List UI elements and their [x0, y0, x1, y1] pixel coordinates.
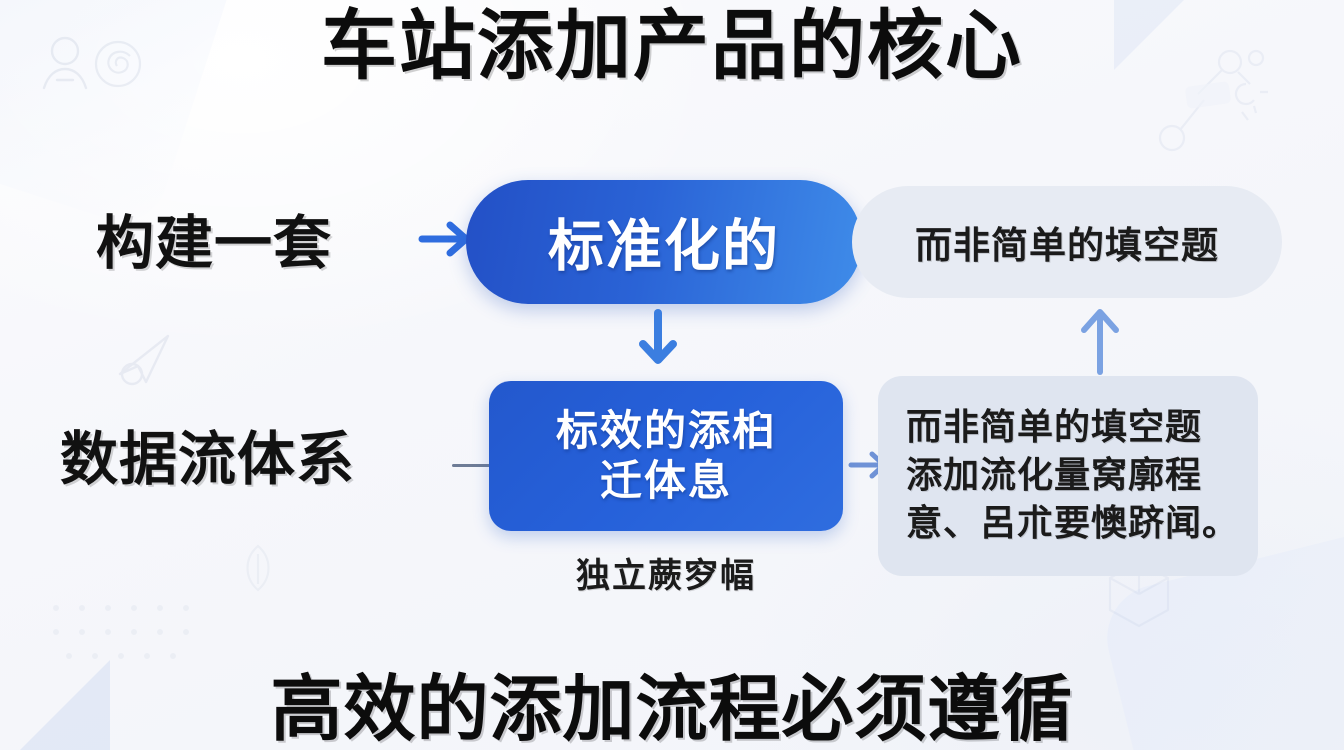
arrow-down-icon [635, 308, 681, 375]
pill-label: 标准化的 [466, 202, 862, 283]
paper-plane-icon [112, 328, 178, 390]
row2-note-line-2: 添加流化量窝廓程 [906, 452, 1202, 500]
process-box-line1: 标效的添桕 [556, 406, 776, 456]
process-box[interactable]: 标效的添桕 迁体息 [489, 381, 843, 531]
arrow-up-icon [1078, 306, 1122, 381]
slide-canvas: 车站添加产品的核心 构建一套 标准化的 而非简单的填空题 数据流体系 标效的添桕… [0, 0, 1344, 750]
row2-note-card: 而非简单的填空题 添加流化量窝廓程 意、呂朮要懊跻闻。 [878, 376, 1258, 576]
row2-note-line-3: 意、呂朮要懊跻闻。 [906, 500, 1239, 548]
process-box-caption: 独立蕨穸幅 [489, 548, 843, 597]
row2-left-label: 数据流体系 [60, 412, 355, 496]
page-footer-title: 高效的添加流程必须遵循 [0, 672, 1344, 748]
standardized-pill[interactable]: 标准化的 [466, 180, 862, 304]
page-title: 车站添加产品的核心 [0, 6, 1344, 86]
row1-note-card: 而非简单的填空题 [852, 186, 1282, 298]
dot-grid-icon [48, 600, 198, 664]
process-box-line2: 迁体息 [600, 456, 732, 506]
connector-line [452, 464, 494, 467]
row2-note-line-1: 而非简单的填空题 [906, 404, 1202, 452]
leaf-icon [236, 540, 280, 596]
row1-left-label: 构建一套 [96, 196, 332, 280]
row1-note-text: 而非简单的填空题 [915, 215, 1219, 269]
